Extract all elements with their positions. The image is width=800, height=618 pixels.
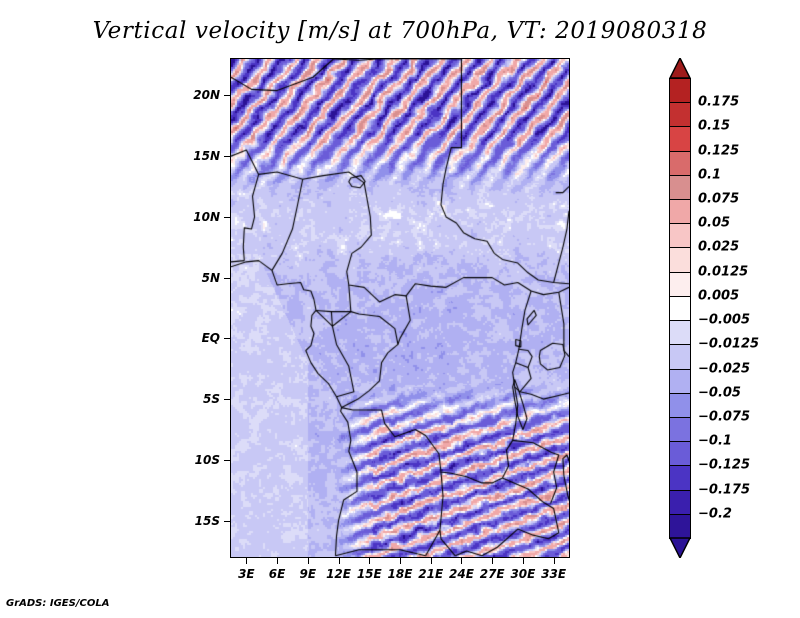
colorbar-tick-label: 0.05 bbox=[698, 216, 730, 231]
y-axis-label: 10N bbox=[168, 210, 220, 224]
y-axis-tick bbox=[224, 521, 230, 522]
x-axis-tick bbox=[400, 558, 401, 564]
colorbar-tick-label: −0.125 bbox=[698, 458, 750, 473]
y-axis-label: EQ bbox=[168, 331, 220, 345]
colorbar-swatch[interactable] bbox=[669, 199, 691, 224]
colorbar-tick-label: 0.125 bbox=[698, 143, 739, 158]
colorbar-swatch[interactable] bbox=[669, 151, 691, 176]
y-axis-label: 15N bbox=[168, 149, 220, 163]
colorbar-swatch[interactable] bbox=[669, 78, 691, 103]
x-axis-tick bbox=[492, 558, 493, 564]
x-axis-tick bbox=[339, 558, 340, 564]
y-axis-tick bbox=[224, 460, 230, 461]
colorbar-tick-label: −0.1 bbox=[698, 434, 732, 449]
colorbar-swatch[interactable] bbox=[669, 247, 691, 272]
x-axis-tick bbox=[554, 558, 555, 564]
colorbar-tick-label: 0.175 bbox=[698, 95, 739, 110]
colorbar-swatch[interactable] bbox=[669, 175, 691, 200]
colorbar-swatch[interactable] bbox=[669, 369, 691, 394]
colorbar-tick-label: 0.005 bbox=[698, 288, 739, 303]
colorbar-swatch[interactable] bbox=[669, 417, 691, 442]
y-axis-label: 5S bbox=[168, 392, 220, 406]
colorbar-tick-label: 0.1 bbox=[698, 167, 721, 182]
country-borders-overlay bbox=[231, 59, 569, 557]
y-axis-label: 5N bbox=[168, 271, 220, 285]
y-axis-label: 20N bbox=[168, 88, 220, 102]
x-axis-tick bbox=[461, 558, 462, 564]
x-axis-tick bbox=[431, 558, 432, 564]
x-axis-label: 33E bbox=[534, 567, 574, 581]
colorbar-tick-label: 0.025 bbox=[698, 240, 739, 255]
colorbar-tick-label: 0.075 bbox=[698, 192, 739, 207]
y-axis-tick bbox=[224, 95, 230, 96]
map-plot-area[interactable] bbox=[230, 58, 570, 558]
colorbar-tick-label: −0.175 bbox=[698, 482, 750, 497]
y-axis-tick bbox=[224, 399, 230, 400]
x-axis-tick bbox=[277, 558, 278, 564]
footer-credit: GrADS: IGES/COLA bbox=[6, 598, 109, 609]
y-axis-tick bbox=[224, 278, 230, 279]
y-axis-tick bbox=[224, 217, 230, 218]
y-axis-label: 15S bbox=[168, 514, 220, 528]
x-axis-tick bbox=[308, 558, 309, 564]
colorbar-tick-label: −0.025 bbox=[698, 361, 750, 376]
x-axis-tick bbox=[246, 558, 247, 564]
colorbar-arrow-top bbox=[669, 58, 691, 80]
colorbar-swatch[interactable] bbox=[669, 102, 691, 127]
page-title: Vertical velocity [m/s] at 700hPa, VT: 2… bbox=[0, 18, 800, 44]
y-axis-tick bbox=[224, 338, 230, 339]
colorbar-swatch[interactable] bbox=[669, 344, 691, 369]
colorbar-tick-label: −0.005 bbox=[698, 313, 750, 328]
colorbar-swatch[interactable] bbox=[669, 393, 691, 418]
colorbar-tick-label: −0.05 bbox=[698, 385, 741, 400]
colorbar-swatch[interactable] bbox=[669, 126, 691, 151]
colorbar-tick-label: −0.075 bbox=[698, 409, 750, 424]
y-axis-tick bbox=[224, 156, 230, 157]
x-axis-tick bbox=[523, 558, 524, 564]
colorbar-tick-label: 0.0125 bbox=[698, 264, 748, 279]
y-axis-label: 10S bbox=[168, 453, 220, 467]
colorbar-swatch[interactable] bbox=[669, 490, 691, 515]
colorbar-swatch[interactable] bbox=[669, 223, 691, 248]
colorbar-tick-label: −0.2 bbox=[698, 506, 732, 521]
colorbar-swatch[interactable] bbox=[669, 272, 691, 297]
colorbar[interactable] bbox=[669, 58, 691, 558]
colorbar-swatch[interactable] bbox=[669, 320, 691, 345]
colorbar-swatch[interactable] bbox=[669, 465, 691, 490]
colorbar-swatch[interactable] bbox=[669, 441, 691, 466]
colorbar-swatch[interactable] bbox=[669, 296, 691, 321]
colorbar-tick-label: −0.0125 bbox=[698, 337, 759, 352]
colorbar-arrow-bottom bbox=[669, 537, 691, 559]
colorbar-swatch[interactable] bbox=[669, 514, 691, 539]
colorbar-tick-label: 0.15 bbox=[698, 119, 730, 134]
x-axis-tick bbox=[369, 558, 370, 564]
